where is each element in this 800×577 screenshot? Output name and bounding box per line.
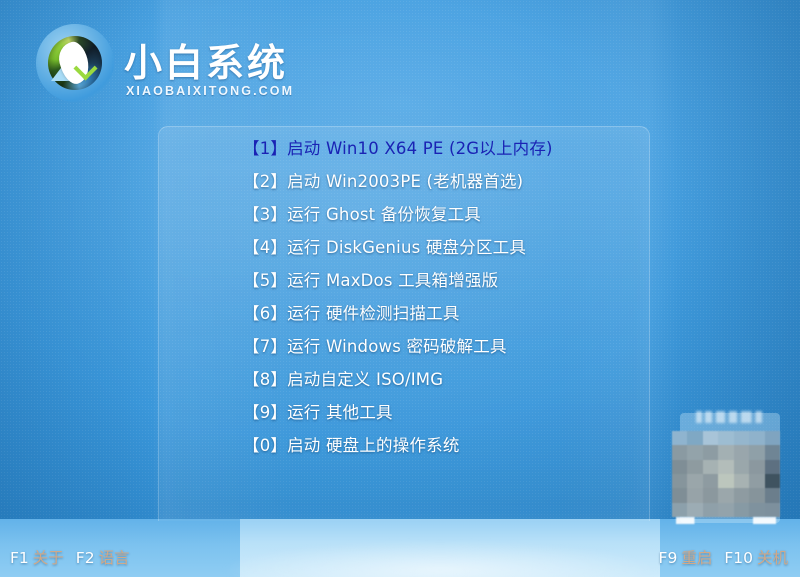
boot-menu-item-8[interactable]: 【8】启动自定义 ISO/IMG [158,363,648,396]
hotkey-bar-left: F1关于F2语言 [10,546,130,568]
boot-menu-item-5[interactable]: 【5】运行 MaxDos 工具箱增强版 [158,264,648,297]
mosaic-cell [703,488,718,502]
mosaic-cell [672,488,687,502]
mosaic-cell [749,488,764,502]
mosaic-cell [703,431,718,445]
boot-menu-screen: 小白系统 XIAOBAIXITONG.COM 【1】启动 Win10 X64 P… [0,0,800,577]
hotkey-label: 语言 [99,549,130,567]
mosaic-cell [687,445,702,459]
mosaic-cell [765,445,780,459]
hotkey-label: 关于 [33,549,64,567]
hotkey-f2[interactable]: F2语言 [76,549,130,567]
boot-menu-item-9[interactable]: 【9】运行 其他工具 [158,396,648,429]
logo-glow-icon [36,24,114,102]
hotkey-f9[interactable]: F9重启 [659,549,725,567]
mosaic-grid [672,431,780,517]
boot-menu-list: 【1】启动 Win10 X64 PE (2G以上内存)【2】启动 Win2003… [158,132,648,462]
mosaic-cell [734,431,749,445]
mosaic-cell [718,445,733,459]
censored-caption-blur [696,411,762,423]
hotkey-key: F1 [10,549,29,567]
mosaic-cell [672,431,687,445]
boot-menu-item-label: 【2】启动 Win2003PE (老机器首选) [243,172,523,191]
boot-menu-item-label: 【0】启动 硬盘上的操作系统 [243,436,460,455]
mosaic-cell [703,445,718,459]
mosaic-cell [687,503,702,517]
boot-menu-item-label: 【6】运行 硬件检测扫描工具 [243,304,460,323]
mosaic-cell [672,445,687,459]
stage-glow [180,528,700,577]
mosaic-cell [765,503,780,517]
hotkey-key: F9 [659,549,678,567]
mosaic-cell [718,488,733,502]
hotkey-key: F10 [724,549,753,567]
mosaic-cell [749,445,764,459]
mosaic-cell [734,503,749,517]
hotkey-bar-right: F9重启F10关机 [659,546,788,568]
mosaic-cell [718,503,733,517]
boot-menu-item-4[interactable]: 【4】运行 DiskGenius 硬盘分区工具 [158,231,648,264]
hotkey-key: F2 [76,549,95,567]
boot-menu-item-label: 【3】运行 Ghost 备份恢复工具 [243,205,481,224]
brand-name-cn: 小白系统 [124,32,288,87]
brand-logo: 小白系统 XIAOBAIXITONG.COM [26,18,286,106]
boot-menu-item-label: 【7】运行 Windows 密码破解工具 [243,337,507,356]
mosaic-cell [718,474,733,488]
boot-menu-item-7[interactable]: 【7】运行 Windows 密码破解工具 [158,330,648,363]
boot-menu-item-label: 【8】启动自定义 ISO/IMG [243,370,443,389]
mosaic-cell [765,460,780,474]
mosaic-cell [749,460,764,474]
censored-qr-block [672,405,784,527]
hotkey-label: 重启 [681,549,712,567]
hotkey-f10[interactable]: F10关机 [724,549,788,567]
boot-menu-item-label: 【9】运行 其他工具 [243,403,393,422]
mosaic-cell [687,431,702,445]
mosaic-cell [687,474,702,488]
boot-menu-item-1[interactable]: 【1】启动 Win10 X64 PE (2G以上内存) [158,132,648,165]
mosaic-cell [734,488,749,502]
mosaic-cell [672,460,687,474]
boot-menu-item-2[interactable]: 【2】启动 Win2003PE (老机器首选) [158,165,648,198]
mosaic-cell [718,431,733,445]
boot-menu-item-label: 【5】运行 MaxDos 工具箱增强版 [243,271,498,290]
mosaic-cell [749,503,764,517]
boot-menu-item-0[interactable]: 【0】启动 硬盘上的操作系统 [158,429,648,462]
mosaic-cell [703,474,718,488]
mosaic-cell [672,474,687,488]
mosaic-cell [718,460,733,474]
mosaic-cell [765,431,780,445]
mosaic-cell [734,474,749,488]
censored-footer-blur [676,517,780,524]
mosaic-cell [765,474,780,488]
mosaic-cell [703,460,718,474]
mosaic-cell [672,503,687,517]
hotkey-f1[interactable]: F1关于 [10,549,76,567]
mosaic-cell [734,460,749,474]
brand-name-en: XIAOBAIXITONG.COM [126,84,294,98]
boot-menu-item-3[interactable]: 【3】运行 Ghost 备份恢复工具 [158,198,648,231]
mosaic-cell [749,474,764,488]
hotkey-label: 关机 [757,549,788,567]
mosaic-cell [765,488,780,502]
mosaic-cell [703,503,718,517]
boot-menu-item-6[interactable]: 【6】运行 硬件检测扫描工具 [158,297,648,330]
mosaic-cell [687,488,702,502]
mosaic-cell [749,431,764,445]
mosaic-cell [687,460,702,474]
boot-menu-item-label: 【4】运行 DiskGenius 硬盘分区工具 [243,238,526,257]
boot-menu-item-label: 【1】启动 Win10 X64 PE (2G以上内存) [243,139,553,158]
mosaic-cell [734,445,749,459]
